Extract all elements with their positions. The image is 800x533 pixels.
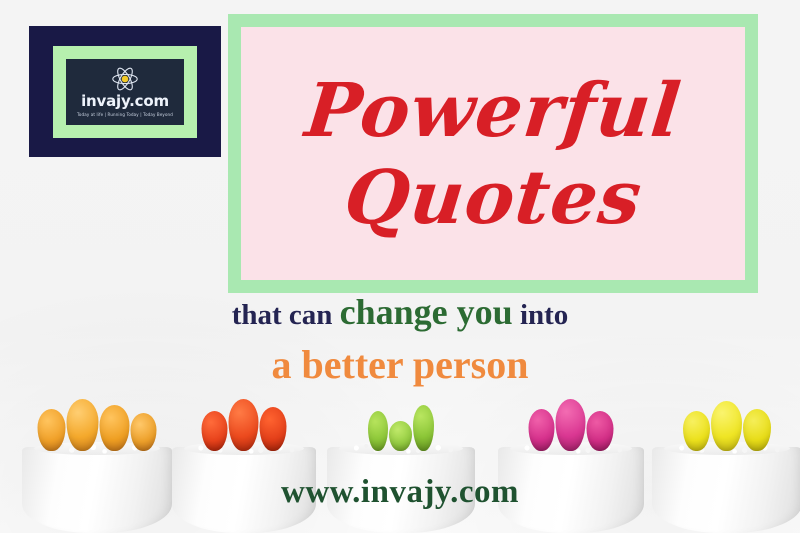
logo-inner-panel: invajy.com Today at life | Running Today…	[66, 59, 184, 125]
subtitle-part-change-you: change you	[340, 292, 513, 332]
footer-url[interactable]: www.invajy.com	[0, 474, 800, 511]
logo-wordmark: invajy.com	[81, 94, 169, 109]
cactus-green-icon	[368, 405, 434, 451]
cactus-red-icon	[202, 399, 287, 451]
title-line-powerful: Powerful	[302, 75, 684, 148]
title-panel-inner: Powerful Quotes	[241, 27, 745, 280]
logo-tagline: Today at life | Running Today | Today Be…	[77, 113, 173, 117]
poster-canvas: invajy.com Today at life | Running Today…	[0, 0, 800, 533]
subtitle-line-2: a better person	[0, 341, 800, 388]
logo-mint-frame: invajy.com Today at life | Running Today…	[53, 46, 197, 138]
title-line-quotes: Quotes	[341, 162, 645, 235]
title-panel: Powerful Quotes	[228, 14, 758, 293]
subtitle-part-into: into	[513, 299, 569, 331]
subtitle-part-that-can: that can	[232, 299, 340, 331]
cactus-magenta-icon	[529, 399, 614, 451]
cactus-orange-icon	[38, 399, 157, 451]
atom-icon	[111, 66, 139, 92]
cactus-yellow-icon	[683, 401, 771, 451]
brand-logo-badge[interactable]: invajy.com Today at life | Running Today…	[29, 26, 221, 157]
subtitle-line-1: that can change you into	[0, 291, 800, 333]
